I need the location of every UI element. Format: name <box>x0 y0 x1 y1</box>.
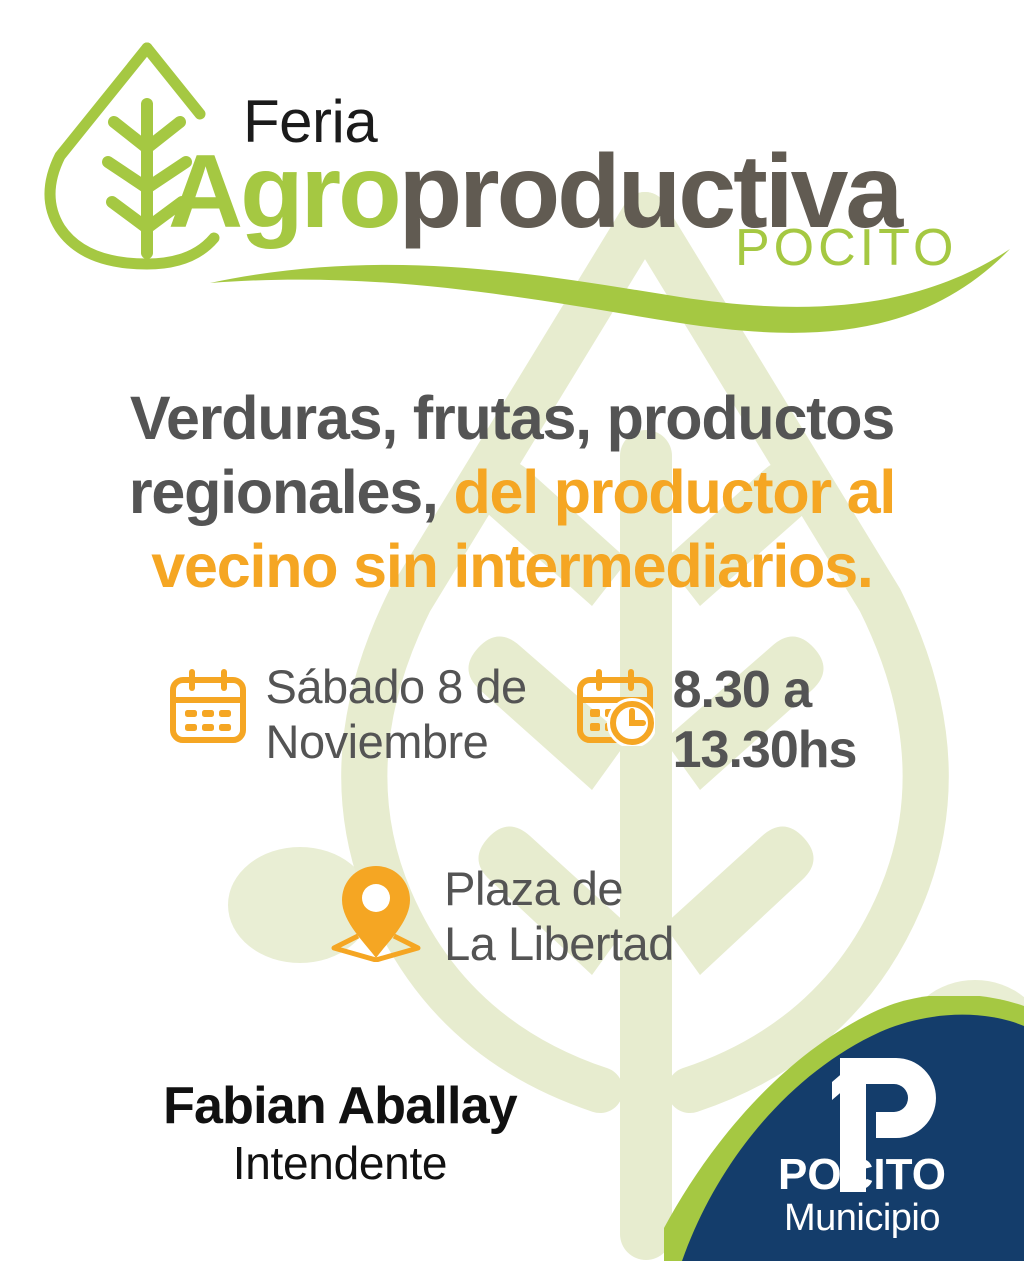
municipal-badge: POCITO Municipio <box>664 996 1024 1261</box>
signature-name: Fabian Aballay <box>60 1078 620 1135</box>
badge-title: POCITO <box>700 1153 1024 1197</box>
signature-block: Fabian Aballay Intendente <box>60 1078 620 1190</box>
badge-subtitle: Municipio <box>700 1199 1024 1239</box>
time-text: 8.30 a 13.30hs <box>673 660 857 781</box>
headline-line-1: Verduras, frutas, productos <box>130 384 894 452</box>
headline-line-2-accent: del productor al <box>453 458 895 526</box>
time-item: 8.30 a 13.30hs <box>575 660 857 781</box>
place-text: Plaza de La Libertad <box>444 862 674 971</box>
headline-line-2-plain: regionales, <box>129 458 438 526</box>
headline-line-3-accent: vecino sin intermediarios. <box>151 532 872 600</box>
headline: Verduras, frutas, productos regionales, … <box>0 382 1024 603</box>
date-time-row: Sábado 8 de Noviembre <box>0 660 1024 781</box>
place-row: Plaza de La Libertad <box>0 862 1024 971</box>
logo-agro-text: Agro <box>168 134 399 250</box>
green-swoosh-icon <box>210 235 1010 335</box>
signature-role: Intendente <box>60 1137 620 1190</box>
brand-logo: Feria Agroproductiva POCITO <box>0 0 1024 330</box>
map-pin-icon <box>330 862 422 962</box>
poster-canvas: Feria Agroproductiva POCITO Verduras, fr… <box>0 0 1024 1261</box>
date-text: Sábado 8 de Noviembre <box>266 660 527 769</box>
calendar-clock-icon <box>575 666 655 746</box>
date-item: Sábado 8 de Noviembre <box>168 660 527 769</box>
calendar-icon <box>168 666 248 746</box>
badge-text-block: POCITO Municipio <box>664 1153 1024 1239</box>
